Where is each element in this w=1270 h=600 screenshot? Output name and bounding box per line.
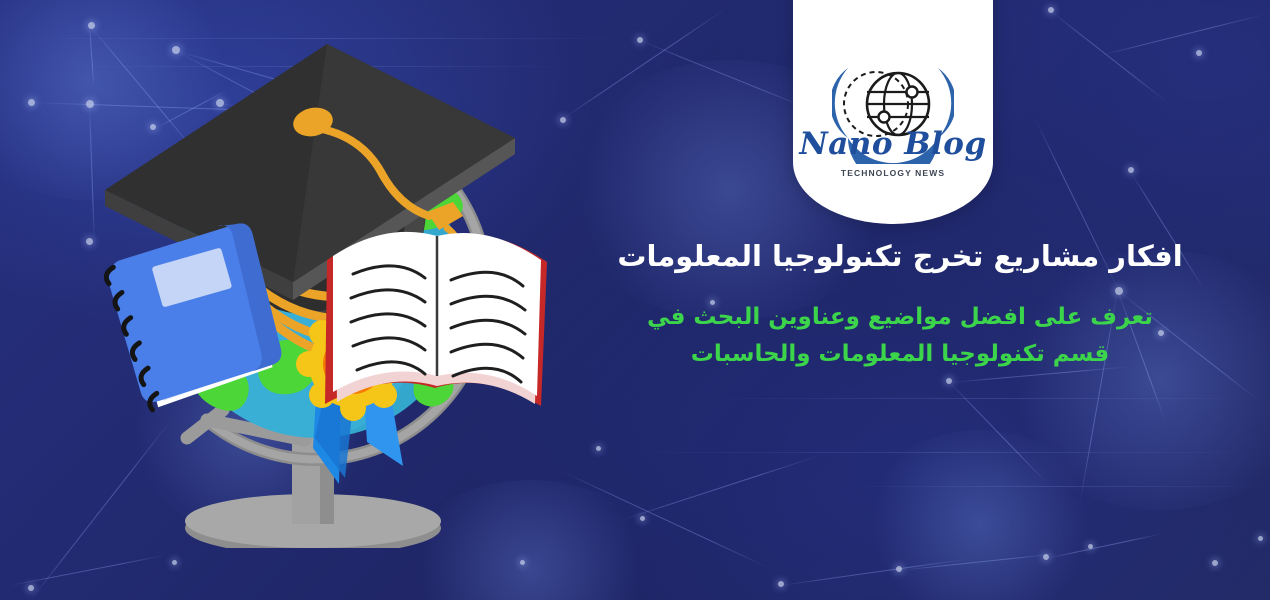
nano-blog-logo-card[interactable]: Nano Blog TECHNOLOGY NEWS — [793, 0, 993, 224]
page-subtitle: تعرف على افضل مواضيع وعناوين البحث في قس… — [600, 299, 1200, 372]
logo-tagline: TECHNOLOGY NEWS — [793, 168, 993, 178]
page-subtitle-line-1: تعرف على افضل مواضيع وعناوين البحث في — [600, 299, 1200, 335]
page-subtitle-line-2: قسم تكنولوجيا المعلومات والحاسبات — [600, 336, 1200, 372]
page-title: افكار مشاريع تخرج تكنولوجيا المعلومات — [600, 236, 1200, 277]
graduation-globe-illustration — [95, 28, 555, 548]
logo-wordmark: Nano Blog — [793, 126, 993, 162]
headline-block: افكار مشاريع تخرج تكنولوجيا المعلومات تع… — [600, 236, 1200, 372]
banner-canvas: Nano Blog TECHNOLOGY NEWS افكار مشاريع ت… — [0, 0, 1270, 600]
